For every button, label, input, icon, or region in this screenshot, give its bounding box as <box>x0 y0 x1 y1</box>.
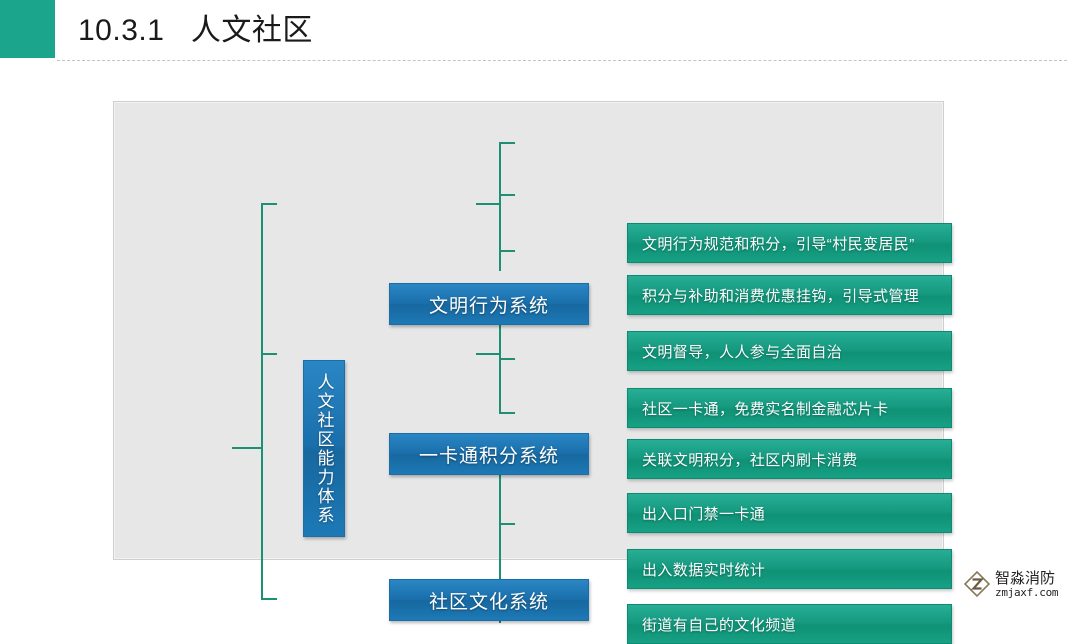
branch-node-label: 社区文化系统 <box>429 587 549 614</box>
branch-node-community-culture[interactable]: 社区文化系统 <box>389 579 589 621</box>
leaf-node[interactable]: 出入口门禁一卡通 <box>627 493 952 533</box>
connector-b2-leaf-1 <box>499 523 515 525</box>
connector-l2-stub-0 <box>261 203 277 205</box>
connector-b1-out <box>476 353 500 355</box>
diagram-panel: 人文社区能力体系 文明行为系统 一卡通积分系统 社区文化系统 文明行为规范和积分… <box>113 101 944 560</box>
branch-node-label: 一卡通积分系统 <box>419 441 559 468</box>
leaf-node[interactable]: 积分与补助和消费优惠挂钩，引导式管理 <box>627 275 952 315</box>
page-title: 10.3.1 人文社区 <box>78 10 313 52</box>
leaf-node-label: 文明督导，人人参与全面自治 <box>642 341 842 362</box>
connector-b0-leaf-2 <box>499 250 515 252</box>
leaf-node-label: 出入数据实时统计 <box>642 559 765 580</box>
connector-b0-leaf-0 <box>499 142 515 144</box>
connector-b0-out <box>476 203 500 205</box>
connector-l2-stub-2 <box>261 598 277 600</box>
connector-b0-leaf-1 <box>499 194 515 196</box>
logo-company-name: 智淼消防 <box>995 571 1058 586</box>
leaf-node[interactable]: 社区一卡通，免费实名制金融芯片卡 <box>627 388 952 428</box>
leaf-node-label: 社区一卡通，免费实名制金融芯片卡 <box>642 398 888 419</box>
slide-header: 10.3.1 人文社区 <box>0 0 1080 62</box>
root-node-label: 人文社区能力体系 <box>316 373 333 525</box>
leaf-node[interactable]: 出入数据实时统计 <box>627 549 952 589</box>
diamond-z-icon <box>963 570 991 598</box>
leaf-node-label: 积分与补助和消费优惠挂钩，引导式管理 <box>642 285 919 306</box>
leaf-node-label: 街道有自己的文化频道 <box>642 614 796 635</box>
connector-b1-leaf-2 <box>499 412 515 414</box>
leaf-node[interactable]: 街道有自己的文化频道 <box>627 604 952 644</box>
leaf-node[interactable]: 关联文明积分，社区内刷卡消费 <box>627 439 952 479</box>
watermark-logo: 智淼消防 zmjaxf.com <box>963 567 1075 601</box>
connector-l2-stub-1 <box>261 353 277 355</box>
leaf-node[interactable]: 文明行为规范和积分，引导“村民变居民” <box>627 223 952 263</box>
branch-node-card-points[interactable]: 一卡通积分系统 <box>389 433 589 475</box>
leaf-node[interactable]: 文明督导，人人参与全面自治 <box>627 331 952 371</box>
branch-node-label: 文明行为系统 <box>429 291 549 318</box>
connector-l2-spine <box>261 203 263 599</box>
leaf-node-label: 出入口门禁一卡通 <box>642 503 765 524</box>
branch-node-civilized-behavior[interactable]: 文明行为系统 <box>389 283 589 325</box>
connector-b1-leaf-1 <box>499 358 515 360</box>
header-divider <box>57 60 1067 61</box>
connector-root-stem <box>232 447 262 449</box>
leaf-node-label: 关联文明积分，社区内刷卡消费 <box>642 449 858 470</box>
header-accent-bar <box>0 0 55 58</box>
logo-url: zmjaxf.com <box>995 587 1058 598</box>
leaf-node-label: 文明行为规范和积分，引导“村民变居民” <box>642 233 915 254</box>
root-node[interactable]: 人文社区能力体系 <box>303 360 345 537</box>
logo-text: 智淼消防 zmjaxf.com <box>995 571 1058 598</box>
